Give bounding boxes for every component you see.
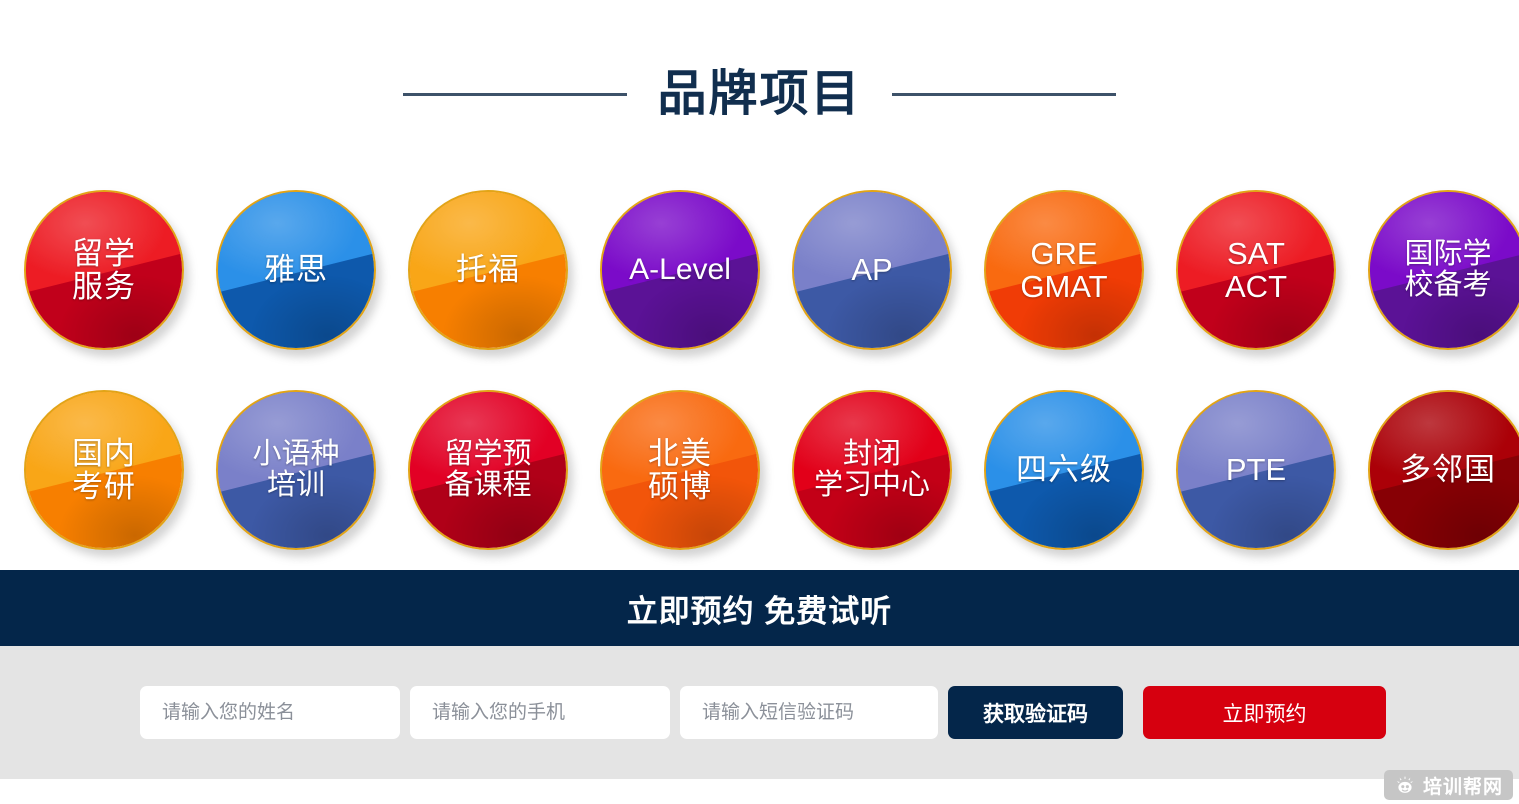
program-circle[interactable]: 托福 [408, 190, 568, 350]
program-slot: A-Level [584, 170, 776, 370]
program-row-1: 留学 服务雅思托福A-LevelAPGRE GMATSAT ACT国际学 校备考 [0, 170, 1519, 370]
program-slot: 多邻国 [1352, 370, 1519, 570]
submit-booking-button[interactable]: 立即预约 [1143, 686, 1386, 739]
program-label: AP [851, 253, 892, 286]
program-label: 小语种 培训 [252, 439, 339, 502]
program-slot: AP [776, 170, 968, 370]
program-circle[interactable]: SAT ACT [1176, 190, 1336, 350]
program-circle[interactable]: PTE [1176, 390, 1336, 550]
program-slot: 国际学 校备考 [1352, 170, 1519, 370]
program-slot: 留学预 备课程 [392, 370, 584, 570]
program-label: GRE GMAT [1020, 237, 1107, 304]
program-label: 雅思 [264, 253, 328, 286]
program-label: 留学 服务 [72, 237, 136, 304]
program-row-2: 国内 考研小语种 培训留学预 备课程北美 硕博封闭 学习中心四六级PTE多邻国 [0, 370, 1519, 570]
name-input[interactable] [140, 686, 400, 739]
program-slot: 四六级 [968, 370, 1160, 570]
program-circle[interactable]: 国际学 校备考 [1368, 190, 1519, 350]
program-label: 多邻国 [1400, 453, 1496, 486]
program-circle[interactable]: AP [792, 190, 952, 350]
watermark-badge: 培训帮网 [1384, 770, 1513, 800]
program-label: 封闭 学习中心 [814, 439, 930, 502]
program-slot: 托福 [392, 170, 584, 370]
program-label: PTE [1226, 453, 1286, 486]
program-label: 国际学 校备考 [1404, 239, 1491, 302]
program-circle[interactable]: 四六级 [984, 390, 1144, 550]
bottom-white-strip [0, 793, 1519, 804]
eye-icon [1394, 774, 1416, 796]
program-label: A-Level [629, 254, 731, 286]
program-circle[interactable]: 留学 服务 [24, 190, 184, 350]
program-label: 留学预 备课程 [444, 439, 531, 502]
booking-banner-text: 立即预约 免费试听 [627, 586, 893, 631]
watermark-text: 培训帮网 [1423, 772, 1503, 799]
program-slot: SAT ACT [1160, 170, 1352, 370]
program-slot: 封闭 学习中心 [776, 370, 968, 570]
program-label: SAT ACT [1225, 237, 1287, 304]
phone-input[interactable] [410, 686, 670, 739]
program-slot: 北美 硕博 [584, 370, 776, 570]
program-circle[interactable]: 留学预 备课程 [408, 390, 568, 550]
program-label: 北美 硕博 [648, 437, 712, 504]
title-rule-right [892, 93, 1116, 96]
program-circle[interactable]: 雅思 [216, 190, 376, 350]
page-title-block: 品牌项目 [0, 0, 1519, 170]
title-rule-left [403, 93, 627, 96]
program-circle[interactable]: GRE GMAT [984, 190, 1144, 350]
booking-banner: 立即预约 免费试听 [0, 570, 1519, 646]
page-title: 品牌项目 [657, 70, 861, 119]
program-circle[interactable]: 国内 考研 [24, 390, 184, 550]
program-slot: 小语种 培训 [200, 370, 392, 570]
program-slot: GRE GMAT [968, 170, 1160, 370]
program-slot: 雅思 [200, 170, 392, 370]
program-label: 国内 考研 [72, 437, 136, 504]
program-circle[interactable]: 多邻国 [1368, 390, 1519, 550]
program-slot: 国内 考研 [8, 370, 200, 570]
get-code-button[interactable]: 获取验证码 [948, 686, 1123, 739]
program-circle[interactable]: 封闭 学习中心 [792, 390, 952, 550]
program-slot: PTE [1160, 370, 1352, 570]
program-circle[interactable]: 小语种 培训 [216, 390, 376, 550]
program-circle[interactable]: 北美 硕博 [600, 390, 760, 550]
program-circle[interactable]: A-Level [600, 190, 760, 350]
program-slot: 留学 服务 [8, 170, 200, 370]
program-label: 托福 [456, 253, 520, 286]
booking-form: 获取验证码 立即预约 [0, 646, 1519, 779]
program-circle-grid: 留学 服务雅思托福A-LevelAPGRE GMATSAT ACT国际学 校备考… [0, 170, 1519, 570]
program-label: 四六级 [1016, 453, 1112, 486]
sms-code-input[interactable] [680, 686, 938, 739]
